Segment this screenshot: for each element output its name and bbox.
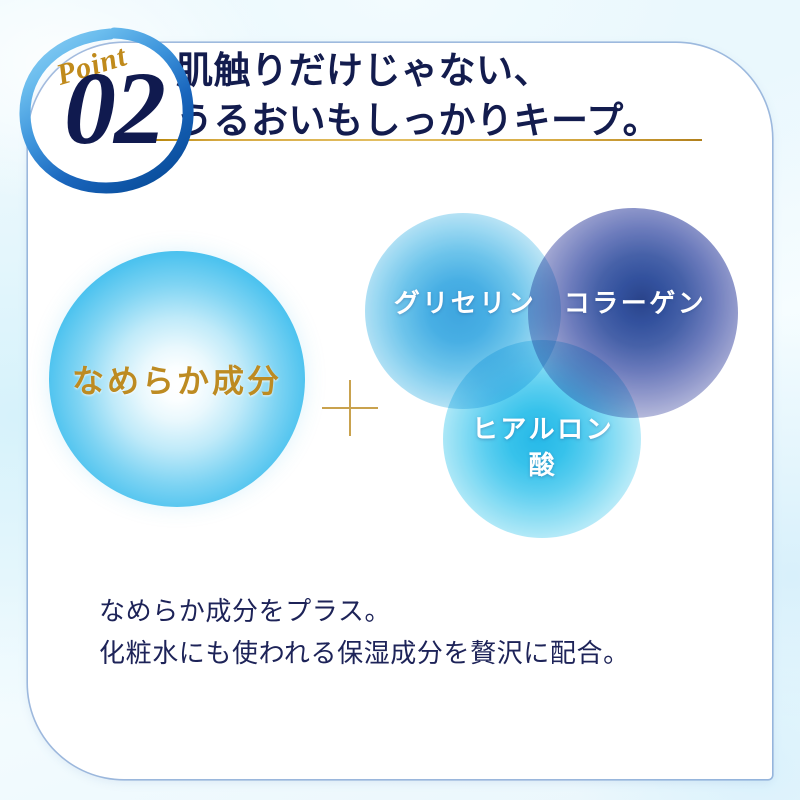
smooth-ingredient-label: なめらか成分 [72, 356, 282, 402]
plus-vertical-stroke [349, 380, 351, 436]
glycerin-label: グリセリン [381, 283, 549, 320]
caption-line-2: 化粧水にも使われる保湿成分を贅沢に配合。 [99, 632, 699, 674]
headline-line-1: 肌触りだけじゃない、 [176, 47, 746, 97]
hyaluronic-acid-label: ヒアルロン 酸 [455, 411, 631, 484]
promo-page: Point 02 肌触りだけじゃない、 うるおいもしっかりキープ。 なめらか成分… [0, 0, 800, 800]
caption-text: なめらか成分をプラス。 化粧水にも使われる保湿成分を贅沢に配合。 [99, 590, 699, 674]
badge-number: 02 [44, 57, 184, 161]
hyaluronic-acid-bubble [443, 340, 641, 538]
caption-line-1: なめらか成分をプラス。 [99, 590, 699, 632]
plus-icon [322, 380, 378, 436]
plus-horizontal-stroke [322, 407, 378, 409]
collagen-label: コラーゲン [545, 283, 725, 320]
card-content: Point 02 肌触りだけじゃない、 うるおいもしっかりキープ。 なめらか成分… [0, 0, 800, 800]
page-title: 肌触りだけじゃない、 うるおいもしっかりキープ。 [176, 47, 746, 148]
point-badge: Point 02 [18, 25, 196, 195]
smooth-ingredient-sphere: なめらか成分 [49, 251, 305, 507]
gold-divider [153, 139, 702, 141]
hyaluronic-acid-label-line-2: 酸 [455, 447, 631, 483]
hyaluronic-acid-label-line-1: ヒアルロン [455, 411, 631, 447]
glycerin-bubble [365, 213, 561, 409]
collagen-bubble [528, 208, 738, 418]
